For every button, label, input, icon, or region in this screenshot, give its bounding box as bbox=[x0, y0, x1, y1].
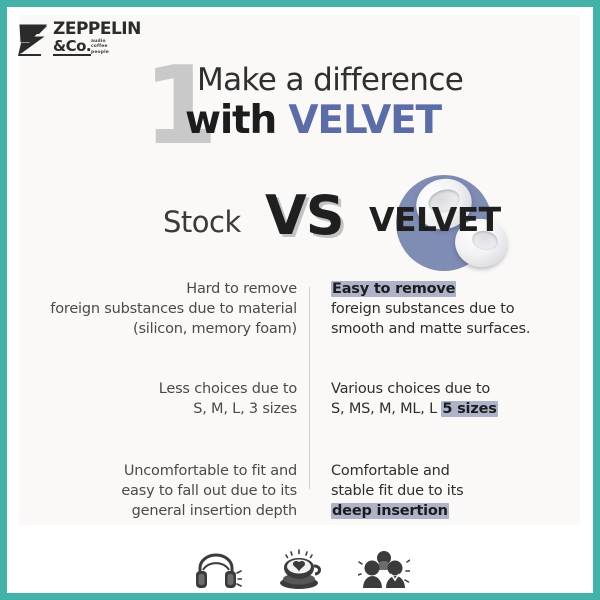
stock-row-1-line-3: (silicon, memory foam) bbox=[33, 319, 297, 339]
velvet-row-1-line-3: smooth and matte surfaces. bbox=[331, 319, 571, 339]
velvet-row-3-line-3: deep insertion bbox=[331, 501, 571, 521]
logo-tagline: audio coffee people bbox=[91, 39, 109, 55]
stock-row-1-line-2: foreign substances due to material bbox=[33, 299, 297, 319]
velvet-row-1-highlight: Easy to remove bbox=[331, 281, 456, 297]
headphones-icon bbox=[190, 546, 242, 592]
poster-canvas: ZEPPELIN &Co. audio coffee people 1 Make… bbox=[0, 0, 600, 600]
coffee-cup-icon bbox=[274, 546, 326, 592]
versus-row: Stock VS VELVET bbox=[7, 175, 593, 271]
velvet-row-2-sizes-text: S, MS, M, ML, L bbox=[331, 401, 441, 417]
stock-row-1-line-1: Hard to remove bbox=[33, 279, 297, 299]
velvet-row-1: Easy to remove foreign substances due to… bbox=[331, 279, 571, 343]
comparison-section: Hard to remove foreign substances due to… bbox=[7, 279, 593, 499]
versus-left-label: Stock bbox=[163, 205, 241, 239]
velvet-row-2: Various choices due to S, MS, M, ML, L 5… bbox=[331, 379, 571, 423]
headline-block: 1 Make a difference with VELVET bbox=[143, 59, 563, 159]
versus-right-label: VELVET bbox=[369, 201, 501, 239]
logo-tagline-line-3: people bbox=[91, 50, 109, 55]
velvet-row-3: Comfortable and stable fit due to its de… bbox=[331, 461, 571, 525]
stock-row-3: Uncomfortable to fit and easy to fall ou… bbox=[33, 461, 297, 525]
headline-line-2: with VELVET bbox=[185, 99, 441, 143]
column-divider bbox=[309, 287, 310, 489]
versus-label: VS bbox=[265, 187, 344, 245]
zeppelin-chevron-mark-icon bbox=[17, 23, 51, 57]
velvet-row-3-line-2: stable fit due to its bbox=[331, 481, 571, 501]
brand-logo[interactable]: ZEPPELIN &Co. audio coffee people bbox=[17, 19, 137, 61]
stock-row-3-line-2: easy to fall out due to its bbox=[33, 481, 297, 501]
velvet-row-1-line-2: foreign substances due to bbox=[331, 299, 571, 319]
footer-icon-row bbox=[7, 541, 593, 597]
stock-spacer-2 bbox=[33, 443, 297, 461]
logo-tagline-line-2: coffee bbox=[91, 44, 108, 49]
stock-row-2: Less choices due to S, M, L, 3 sizes bbox=[33, 379, 297, 423]
velvet-row-1-line-1: Easy to remove bbox=[331, 279, 571, 299]
poster-inner: ZEPPELIN &Co. audio coffee people 1 Make… bbox=[7, 7, 593, 593]
stock-row-2-line-2: S, M, L, 3 sizes bbox=[33, 399, 297, 419]
stock-spacer-1 bbox=[33, 363, 297, 379]
stock-row-2-line-1: Less choices due to bbox=[33, 379, 297, 399]
headline-brand-text: VELVET bbox=[288, 98, 441, 143]
velvet-row-2-highlight: 5 sizes bbox=[441, 401, 497, 417]
stock-row-3-line-1: Uncomfortable to fit and bbox=[33, 461, 297, 481]
stock-column: Hard to remove foreign substances due to… bbox=[33, 279, 297, 545]
velvet-row-3-highlight: deep insertion bbox=[331, 503, 449, 519]
people-group-icon bbox=[358, 546, 410, 592]
velvet-row-2-line-1: Various choices due to bbox=[331, 379, 571, 399]
headline-line-1: Make a difference bbox=[197, 63, 463, 97]
stock-row-3-line-3: general insertion depth bbox=[33, 501, 297, 521]
velvet-row-2-line-2: S, MS, M, ML, L 5 sizes bbox=[331, 399, 571, 419]
logo-wordmark-top: ZEPPELIN bbox=[53, 21, 141, 38]
velvet-column: Easy to remove foreign substances due to… bbox=[331, 279, 571, 545]
velvet-spacer-2 bbox=[331, 443, 571, 461]
velvet-row-3-line-1: Comfortable and bbox=[331, 461, 571, 481]
stock-row-1: Hard to remove foreign substances due to… bbox=[33, 279, 297, 343]
velvet-spacer-1 bbox=[331, 363, 571, 379]
headline-with-text: with bbox=[185, 98, 288, 143]
logo-wordmark-bottom: &Co. bbox=[53, 39, 91, 56]
